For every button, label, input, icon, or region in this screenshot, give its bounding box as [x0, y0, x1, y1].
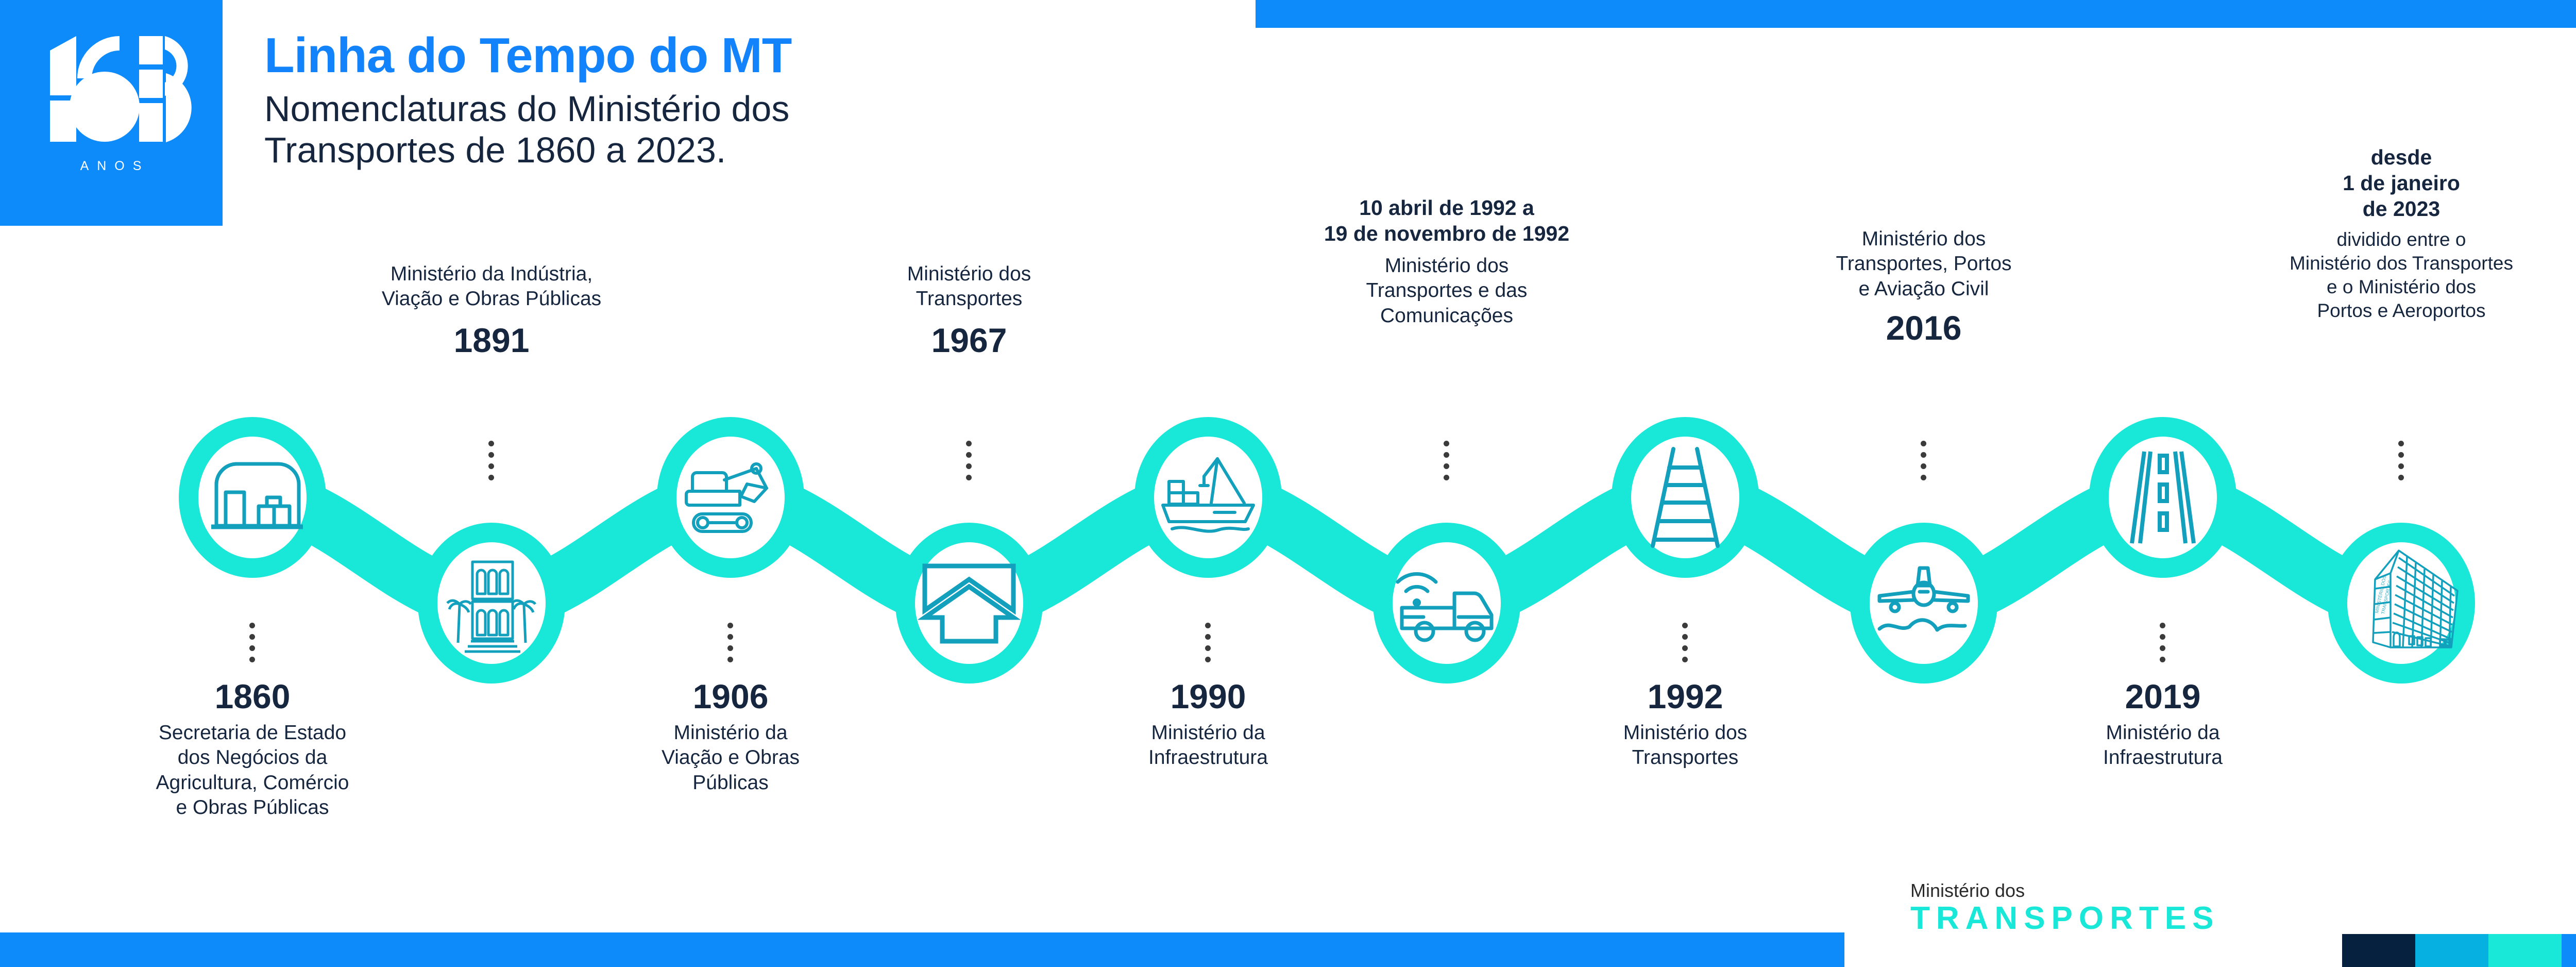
- connector-dots-1992-comunicacoes: [1444, 441, 1449, 480]
- period-1992-line1: 10 abril de 1992 a: [1266, 195, 1627, 221]
- ministry-logo-line1: Ministério dos: [1910, 881, 2323, 900]
- airplane-icon: [1872, 562, 1975, 644]
- label-1906-line1: Ministério da: [550, 721, 911, 745]
- page-subtitle-line2: Transportes de 1860 a 2023.: [264, 130, 1192, 171]
- label-1967-line2: Transportes: [815, 287, 1124, 311]
- ministry-logo: Ministério dos TRANSPORTES: [1910, 881, 2323, 937]
- label-2023-line3: e o Ministério dos: [2216, 275, 2576, 299]
- icon-node-1906: [679, 456, 782, 541]
- connector-dots-1967: [966, 441, 972, 480]
- period-2023-line3: de 2023: [2216, 196, 2576, 222]
- period-2023-line2: 1 de janeiro: [2216, 170, 2576, 196]
- connector-dots-2019: [2160, 623, 2165, 662]
- brand-color-swatches: [2342, 934, 2576, 967]
- year-2016: 2016: [1743, 311, 2104, 345]
- icon-node-1990: [1157, 454, 1260, 544]
- label-1967-line1: Ministério dos: [815, 262, 1124, 287]
- connector-dots-2016: [1921, 441, 1926, 480]
- ministry-headquarters-building-icon: MINISTÉRIO DOS TRANSPORTES: [2343, 546, 2462, 657]
- label-2019-line2: Infraestrutura: [1982, 745, 2343, 770]
- year-2019: 2019: [1982, 679, 2343, 713]
- label-block-1990: 1990 Ministério da Infraestrutura: [1028, 679, 1388, 771]
- swatch-teal: [2488, 934, 2562, 967]
- year-1891: 1891: [311, 323, 672, 357]
- label-1906-line3: Públicas: [550, 771, 911, 795]
- label-1990-line1: Ministério da: [1028, 721, 1388, 745]
- page-title: Linha do Tempo do MT: [264, 31, 1192, 80]
- icon-node-1860: [201, 448, 304, 546]
- swatch-blue: [2562, 934, 2576, 967]
- ministry-logo-line2: TRANSPORTES: [1910, 900, 2323, 937]
- period-1992-line2: 19 de novembro de 1992: [1266, 221, 1627, 246]
- page-subtitle-line1: Nomenclaturas do Ministério dos: [264, 89, 1192, 130]
- swatch-navy: [2342, 934, 2415, 967]
- connector-dots-1990: [1205, 623, 1211, 662]
- label-2019-line1: Ministério da: [1982, 721, 2343, 745]
- logo-165-mark: [0, 0, 223, 226]
- icon-node-1992-transportes: [1641, 446, 1729, 549]
- label-1992c-line3: Comunicações: [1266, 304, 1627, 328]
- label-1992c-line1: Ministério dos: [1266, 254, 1627, 278]
- icon-node-1891: [444, 553, 539, 656]
- truck-signal-icon: [1393, 559, 1501, 647]
- connector-dots-1891: [488, 441, 494, 480]
- label-1992-line2: Transportes: [1505, 745, 1866, 770]
- year-1906: 1906: [550, 679, 911, 713]
- icon-node-1992-comunicacoes: [1393, 559, 1501, 647]
- label-2023-line2: Ministério dos Transportes: [2216, 252, 2576, 275]
- label-2023-line4: Portos e Aeroportos: [2216, 299, 2576, 323]
- label-1860-line2: dos Negócios da: [67, 745, 438, 770]
- label-1992-line1: Ministério dos: [1505, 721, 1866, 745]
- year-1967: 1967: [815, 323, 1124, 357]
- highway-icon: [2122, 448, 2204, 546]
- connector-dots-2023: [2398, 441, 2404, 480]
- connector-dots-1860: [249, 623, 255, 662]
- connector-dots-1906: [727, 623, 733, 662]
- swatch-cyan: [2415, 934, 2488, 967]
- label-block-1860: 1860 Secretaria de Estado dos Negócios d…: [67, 679, 438, 820]
- excavator-icon: [679, 456, 782, 541]
- label-2023-line1: dividido entre o: [2216, 228, 2576, 252]
- connector-dots-1992-transportes: [1682, 623, 1688, 662]
- colonial-building-icon: [444, 553, 539, 656]
- label-block-2019: 2019 Ministério da Infraestrutura: [1982, 679, 2343, 771]
- logo-anos-label: ANOS: [0, 159, 223, 174]
- label-2016-line2: Transportes, Portos: [1743, 252, 2104, 276]
- label-1891-line1: Ministério da Indústria,: [311, 262, 672, 287]
- label-1860-line3: Agricultura, Comércio: [67, 771, 438, 795]
- anniversary-logo: ANOS: [0, 0, 223, 226]
- period-2023-line1: desde: [2216, 144, 2576, 170]
- infographic-canvas: ANOS Linha do Tempo do MT Nomenclaturas …: [0, 0, 2576, 967]
- label-1891-line2: Viação e Obras Públicas: [311, 287, 672, 311]
- label-block-1891: Ministério da Indústria, Viação e Obras …: [311, 262, 672, 357]
- label-block-1906: 1906 Ministério da Viação e Obras Públic…: [550, 679, 911, 795]
- icon-node-2019: [2122, 448, 2204, 546]
- label-1860-line1: Secretaria de Estado: [67, 721, 438, 745]
- label-block-1992-transportes: 1992 Ministério dos Transportes: [1505, 679, 1866, 771]
- railway-icon: [1641, 446, 1729, 549]
- year-1860: 1860: [67, 679, 438, 713]
- icon-node-1967: [918, 557, 1021, 649]
- headline-group: Linha do Tempo do MT Nomenclaturas do Mi…: [264, 31, 1192, 171]
- label-1906-line2: Viação e Obras: [550, 745, 911, 770]
- label-block-2023: desde 1 de janeiro de 2023 dividido entr…: [2216, 144, 2576, 323]
- label-1990-line2: Infraestrutura: [1028, 745, 1388, 770]
- icon-node-2023: MINISTÉRIO DOS TRANSPORTES: [2343, 546, 2462, 657]
- icon-node-2016: [1872, 562, 1975, 644]
- cargo-ship-crane-icon: [1157, 454, 1260, 544]
- label-block-1967: Ministério dos Transportes 1967: [815, 262, 1124, 357]
- mt-arrow-roof-icon: [918, 557, 1021, 649]
- year-1992: 1992: [1505, 679, 1866, 713]
- label-block-2016: Ministério dos Transportes, Portos e Avi…: [1743, 227, 2104, 345]
- label-block-1992-comunicacoes: 10 abril de 1992 a 19 de novembro de 199…: [1266, 195, 1627, 328]
- label-1860-line4: e Obras Públicas: [67, 795, 438, 820]
- top-accent-bar: [1256, 0, 2576, 28]
- warehouse-icon: [201, 448, 304, 546]
- label-2016-line1: Ministério dos: [1743, 227, 2104, 252]
- year-1990: 1990: [1028, 679, 1388, 713]
- bottom-accent-bar: [0, 932, 1844, 967]
- label-2016-line3: e Aviação Civil: [1743, 277, 2104, 302]
- label-1992c-line2: Transportes e das: [1266, 278, 1627, 303]
